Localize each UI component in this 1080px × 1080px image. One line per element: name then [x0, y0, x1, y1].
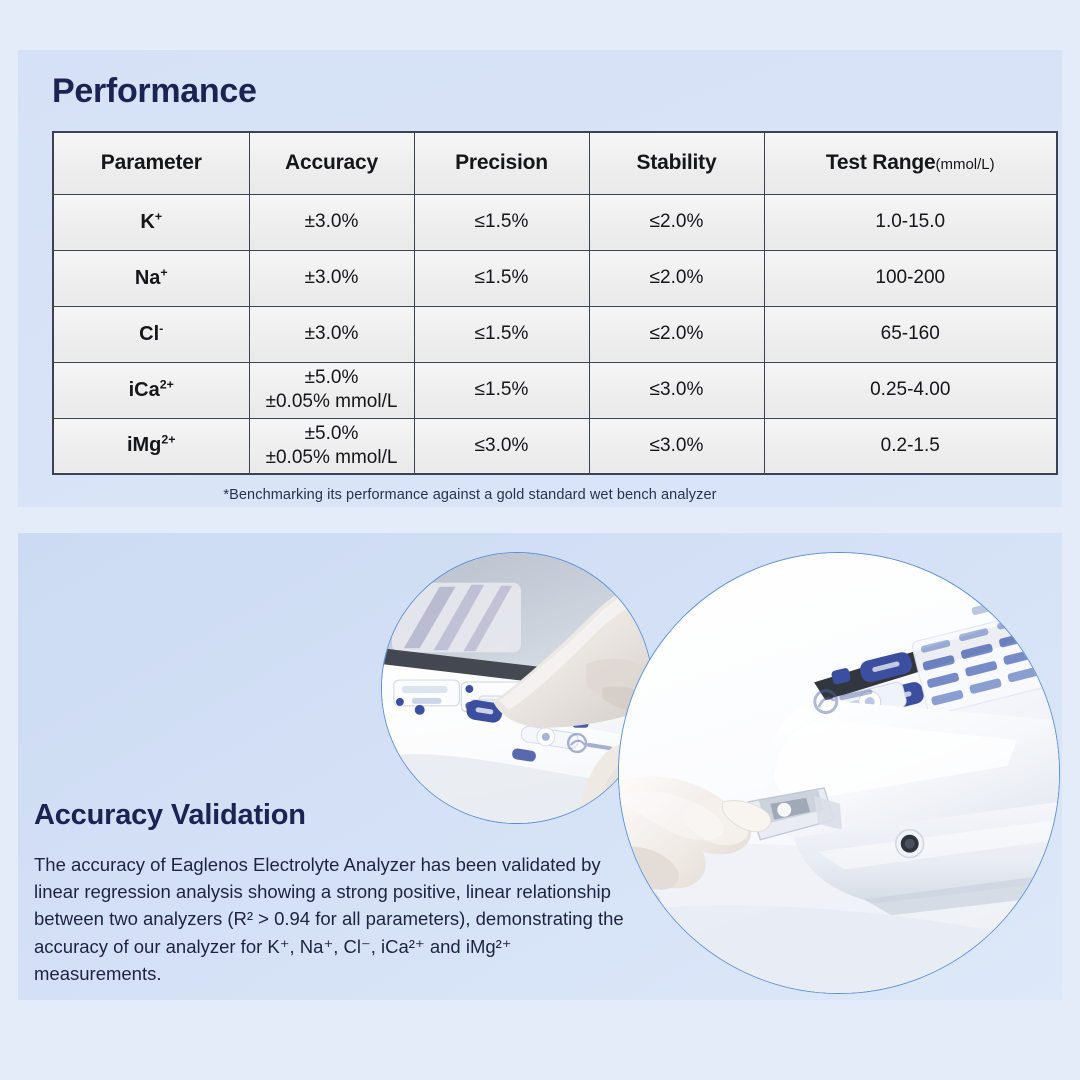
column-header-label: Accuracy — [285, 151, 378, 174]
column-header-label: Parameter — [101, 151, 202, 174]
cell-test-range: 1.0-15.0 — [764, 194, 1057, 250]
table-footnote: *Benchmarking its performance against a … — [36, 487, 1044, 503]
cell-accuracy: ±5.0% ±0.05% mmol/L — [249, 362, 414, 418]
table-body: K+ ±3.0% ≤1.5% ≤2.0% 1.0-15.0 Na+ ±3.0% … — [53, 194, 1057, 474]
column-header-label: Stability — [637, 151, 717, 174]
cell-test-range: 0.25-4.00 — [764, 362, 1057, 418]
table-header: Parameter Accuracy Precision Stability T… — [53, 132, 1057, 194]
analyzer-panel-illustration — [382, 553, 652, 823]
cell-stability: ≤2.0% — [589, 306, 764, 362]
accuracy-line-2: ±0.05% mmol/L — [250, 446, 414, 470]
accuracy-validation-card: Accuracy Validation The accuracy of Eagl… — [18, 533, 1062, 1000]
parameter-symbol: iCa — [129, 379, 160, 401]
table-row: K+ ±3.0% ≤1.5% ≤2.0% 1.0-15.0 — [53, 194, 1057, 250]
parameter-symbol: Na — [135, 267, 161, 289]
performance-card: Performance Parameter Accuracy Precision… — [18, 50, 1062, 507]
parameter-charge: - — [159, 321, 163, 335]
section-title: Accuracy Validation — [34, 799, 306, 832]
cell-stability: ≤3.0% — [589, 362, 764, 418]
cell-test-range: 100-200 — [764, 250, 1057, 306]
column-header-test-range: Test Range(mmol/L) — [764, 132, 1057, 194]
cell-accuracy: ±3.0% — [249, 250, 414, 306]
section-paragraph: The accuracy of Eaglenos Electrolyte Ana… — [34, 851, 626, 987]
accuracy-line-1: ±5.0% — [250, 366, 414, 390]
parameter-symbol: K — [140, 211, 154, 233]
cell-accuracy: ±3.0% — [249, 194, 414, 250]
column-header-label: Test Range — [826, 151, 936, 174]
column-header-unit: (mmol/L) — [935, 156, 994, 173]
parameter-charge: 2+ — [160, 377, 174, 391]
cell-stability: ≤2.0% — [589, 250, 764, 306]
parameter-symbol: Cl — [139, 323, 159, 345]
table-row: iCa2+ ±5.0% ±0.05% mmol/L ≤1.5% ≤3.0% 0.… — [53, 362, 1057, 418]
cell-parameter: iMg2+ — [53, 418, 249, 474]
page-title: Performance — [52, 72, 1044, 111]
cell-precision: ≤1.5% — [414, 362, 589, 418]
cell-stability: ≤3.0% — [589, 418, 764, 474]
cartridge-insertion-photo — [618, 552, 1060, 994]
column-header-precision: Precision — [414, 132, 589, 194]
cell-test-range: 65-160 — [764, 306, 1057, 362]
cell-precision: ≤1.5% — [414, 306, 589, 362]
parameter-charge: + — [160, 265, 167, 279]
table-row: Cl- ±3.0% ≤1.5% ≤2.0% 65-160 — [53, 306, 1057, 362]
accuracy-line-1: ±3.0% — [250, 322, 414, 346]
cell-precision: ≤1.5% — [414, 250, 589, 306]
parameter-charge: 2+ — [161, 433, 175, 447]
analyzer-panel-photo — [381, 552, 653, 824]
cell-test-range: 0.2-1.5 — [764, 418, 1057, 474]
cell-parameter: Cl- — [53, 306, 249, 362]
cell-parameter: Na+ — [53, 250, 249, 306]
cartridge-insertion-illustration — [619, 553, 1059, 993]
column-header-parameter: Parameter — [53, 132, 249, 194]
accuracy-line-2: ±0.05% mmol/L — [250, 390, 414, 414]
cell-precision: ≤1.5% — [414, 194, 589, 250]
cell-accuracy: ±5.0% ±0.05% mmol/L — [249, 418, 414, 474]
accuracy-line-1: ±5.0% — [250, 422, 414, 446]
cell-stability: ≤2.0% — [589, 194, 764, 250]
parameter-symbol: iMg — [127, 434, 161, 456]
table-header-row: Parameter Accuracy Precision Stability T… — [53, 132, 1057, 194]
cell-parameter: iCa2+ — [53, 362, 249, 418]
cell-accuracy: ±3.0% — [249, 306, 414, 362]
table-row: Na+ ±3.0% ≤1.5% ≤2.0% 100-200 — [53, 250, 1057, 306]
cell-precision: ≤3.0% — [414, 418, 589, 474]
accuracy-line-1: ±3.0% — [250, 210, 414, 234]
cell-parameter: K+ — [53, 194, 249, 250]
column-header-label: Precision — [455, 151, 548, 174]
parameter-charge: + — [155, 209, 162, 223]
column-header-accuracy: Accuracy — [249, 132, 414, 194]
column-header-stability: Stability — [589, 132, 764, 194]
table-row: iMg2+ ±5.0% ±0.05% mmol/L ≤3.0% ≤3.0% 0.… — [53, 418, 1057, 474]
performance-table: Parameter Accuracy Precision Stability T… — [52, 131, 1058, 475]
accuracy-line-1: ±3.0% — [250, 266, 414, 290]
